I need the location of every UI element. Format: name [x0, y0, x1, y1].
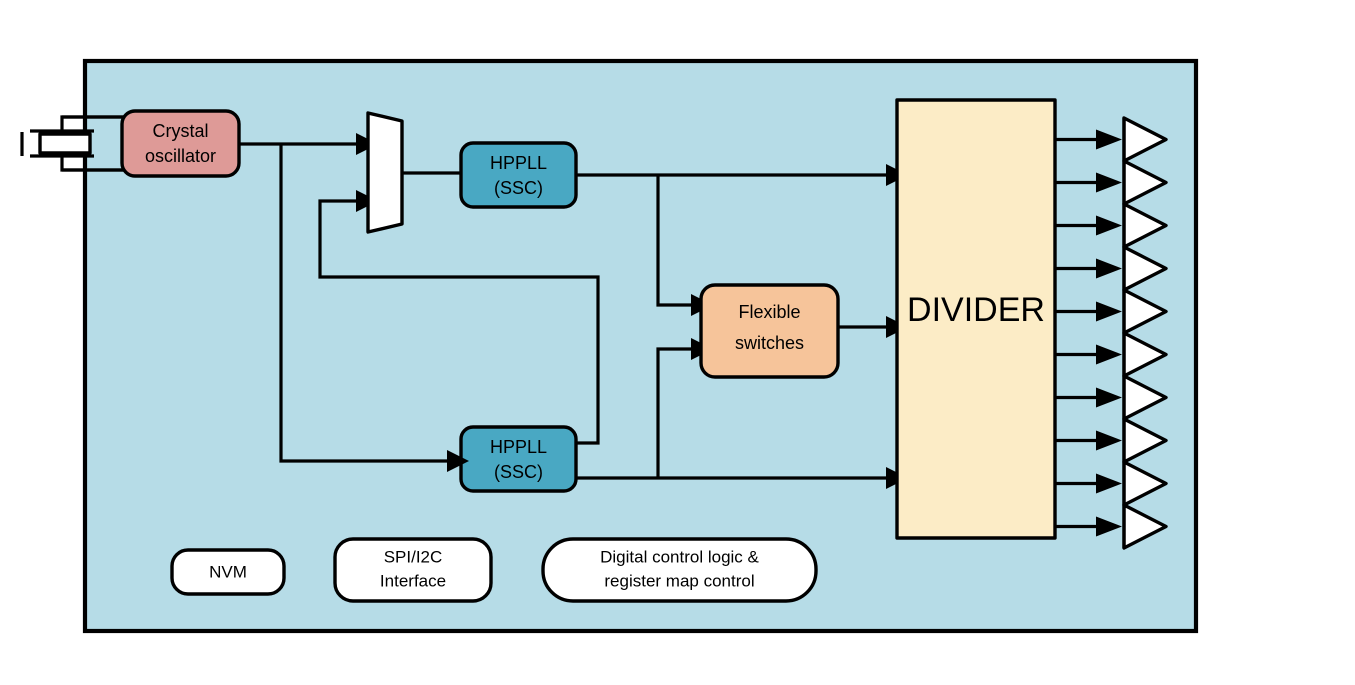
flexible-switches[interactable]: Flexible switches	[701, 285, 838, 377]
hppll-2-label-line2: (SSC)	[494, 462, 543, 482]
divider-label: DIVIDER	[907, 291, 1045, 329]
hppll-1[interactable]: HPPLL (SSC)	[461, 143, 576, 207]
spi-i2c-label-line1: SPI/I2C	[384, 547, 443, 566]
input-mux[interactable]	[368, 113, 402, 232]
block-diagram: HPPLL (SSC) HPPLL (SSC) Flexible switch	[0, 0, 1355, 685]
hppll-2[interactable]: HPPLL (SSC)	[461, 427, 576, 491]
hppll-1-label-line2: (SSC)	[494, 178, 543, 198]
flexible-switches-label-line1: Flexible	[738, 302, 800, 322]
nvm[interactable]: NVM	[172, 550, 284, 594]
nvm-label: NVM	[209, 562, 247, 581]
hppll-1-label-line1: HPPLL	[490, 153, 547, 173]
digital-control-label-line2: register map control	[604, 571, 754, 590]
diagram-canvas: HPPLL (SSC) HPPLL (SSC) Flexible switch	[0, 0, 1355, 685]
spi-i2c-interface[interactable]: SPI/I2C Interface	[335, 539, 491, 601]
crystal-oscillator[interactable]: Crystal oscillator	[122, 111, 239, 176]
crystal-oscillator-label-line1: Crystal	[152, 121, 208, 141]
divider[interactable]: DIVIDER	[897, 100, 1055, 538]
digital-control-label-line1: Digital control logic &	[600, 547, 759, 566]
hppll-2-label-line1: HPPLL	[490, 437, 547, 457]
spi-i2c-label-line2: Interface	[380, 571, 446, 590]
digital-control-logic[interactable]: Digital control logic & register map con…	[543, 539, 816, 601]
crystal-oscillator-label-line2: oscillator	[145, 146, 216, 166]
flexible-switches-label-line2: switches	[735, 333, 804, 353]
